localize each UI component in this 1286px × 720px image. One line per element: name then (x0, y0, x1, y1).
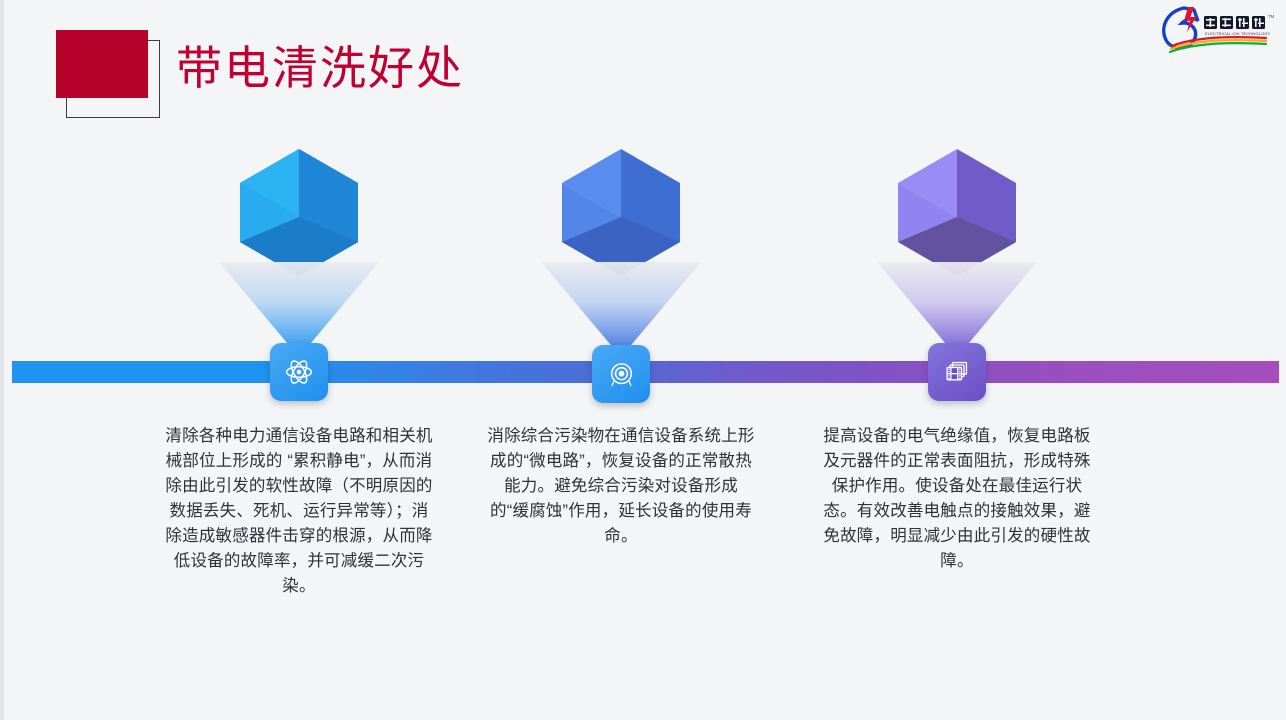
svg-text:TM: TM (1268, 14, 1275, 19)
milestone-1-text: 清除各种电力通信设备电路和相关机械部位上形成的 “累积静电”，从而消除由此引发的… (163, 424, 435, 599)
target-icon (607, 360, 636, 389)
beam-1 (219, 262, 379, 350)
milestone-1[interactable]: 清除各种电力通信设备电路和相关机械部位上形成的 “累积静电”，从而消除由此引发的… (129, 0, 469, 720)
cube-3d-shape (556, 145, 686, 280)
beam-3 (877, 262, 1037, 350)
milestone-2-text: 消除综合污染物在通信设备系统上形成的“微电路”，恢复设备的正常散热能力。避免综合… (485, 424, 757, 549)
cube-icon-3 (892, 145, 1022, 280)
atom-icon (284, 357, 314, 387)
milestone-3[interactable]: 提高设备的电气绝缘值，恢复电路板及元器件的正常表面阻抗，形成特殊保护作用。使设备… (787, 0, 1127, 720)
cube-3d-shape (234, 145, 364, 280)
cube-icon-2 (556, 145, 686, 280)
logo-artwork: ELECTRICAL CHI TECHNOLOGY TM (1154, 2, 1278, 54)
milestone-badge-3[interactable] (928, 343, 986, 401)
milestone-2[interactable]: 消除综合污染物在通信设备系统上形成的“微电路”，恢复设备的正常散热能力。避免综合… (451, 0, 791, 720)
milestone-badge-2[interactable] (592, 345, 650, 403)
milestone-3-text: 提高设备的电气绝缘值，恢复电路板及元器件的正常表面阻抗，形成特殊保护作用。使设备… (823, 424, 1091, 574)
milestone-badge-1[interactable] (270, 343, 328, 401)
logo-tagline: ELECTRICAL CHI TECHNOLOGY (1205, 31, 1271, 36)
slide-canvas: 带电清洗好处 (0, 0, 1286, 720)
cube-icon-1 (234, 145, 364, 280)
film-stack-icon (943, 358, 971, 386)
cube-3d-shape (892, 145, 1022, 280)
beam-2 (541, 262, 701, 350)
company-logo: ELECTRICAL CHI TECHNOLOGY TM (1154, 2, 1278, 54)
